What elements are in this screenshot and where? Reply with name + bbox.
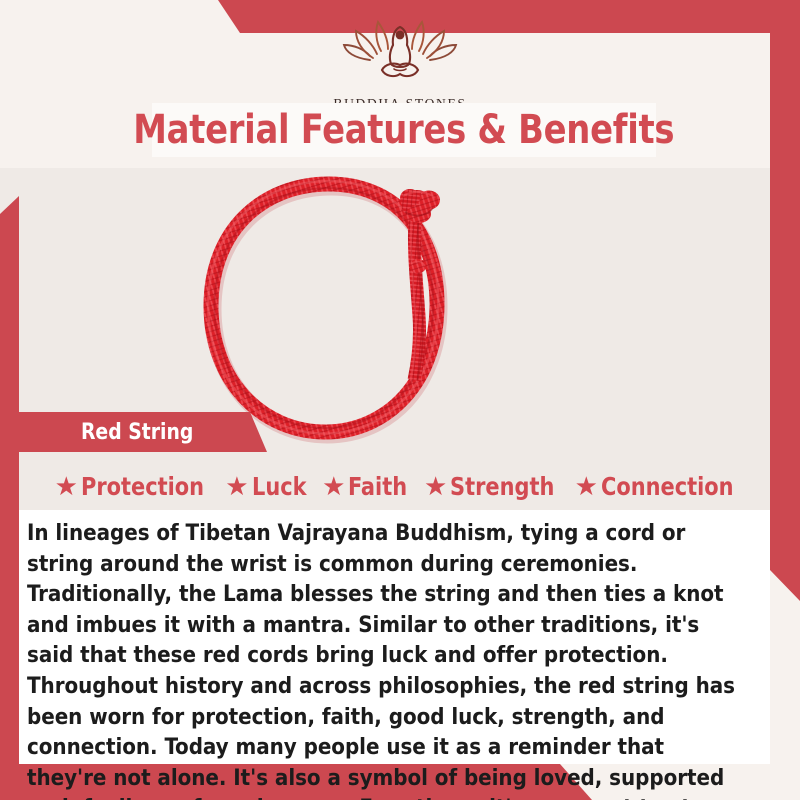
benefit-label: Luck [252,472,307,501]
list-item: ★ Connection [570,472,749,501]
benefits-list: ★ Protection ★ Luck ★ Faith ★ Strength ★… [19,465,779,507]
star-icon: ★ [55,473,78,499]
benefit-label: Protection [81,472,204,501]
page-title: Material Features & Benefits [134,107,675,153]
brand-logo: BUDDHA STONES [0,18,800,112]
list-item: ★ Protection [50,472,219,501]
list-item: ★ Strength [419,472,568,501]
left-red-bar [0,196,19,800]
infographic-canvas: BUDDHA STONES Material Features & Benefi… [0,0,800,800]
product-label-banner: Red String [19,412,267,452]
description-text: In lineages of Tibetan Vajrayana Buddhis… [27,518,737,800]
list-item: ★ Luck [220,472,315,501]
description-card: In lineages of Tibetan Vajrayana Buddhis… [19,510,770,764]
star-icon: ★ [424,473,447,499]
list-item: ★ Faith [317,472,417,501]
benefit-label: Faith [348,472,407,501]
product-label: Red String [81,420,193,445]
page-title-band: Material Features & Benefits [152,103,656,157]
benefit-label: Connection [601,472,734,501]
benefit-label: Strength [450,472,554,501]
product-image [19,168,770,510]
star-icon: ★ [322,473,345,499]
lotus-meditation-figure-icon [0,18,800,93]
star-icon: ★ [225,473,248,499]
star-icon: ★ [575,473,598,499]
